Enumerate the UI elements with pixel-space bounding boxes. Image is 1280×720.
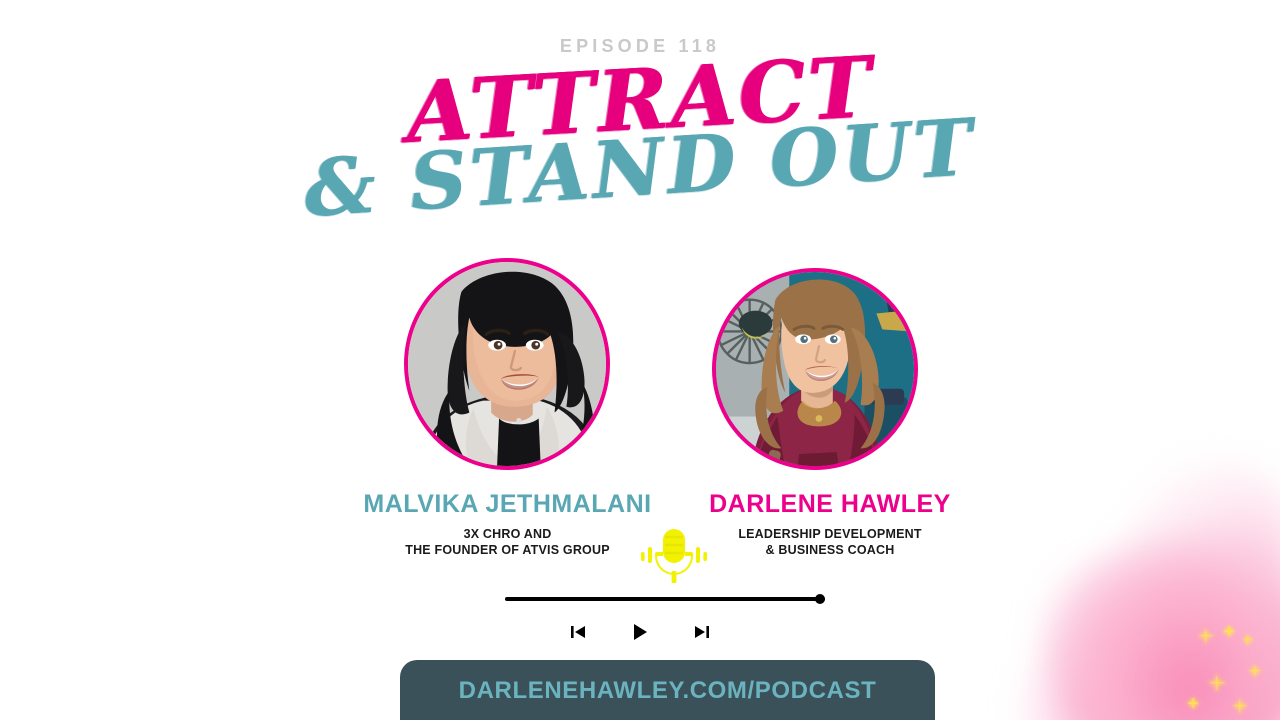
previous-button[interactable] — [566, 620, 590, 644]
guest-2-role: LEADERSHIP DEVELOPMENT & BUSINESS COACH — [690, 527, 970, 558]
progress-track[interactable] — [505, 597, 825, 601]
sparkle-icon — [1233, 699, 1246, 712]
guest-1-role-line1: 3X CHRO AND — [330, 527, 685, 543]
sparkle-icon — [1188, 698, 1198, 708]
progress-knob[interactable] — [815, 594, 825, 604]
podcast-url-text[interactable]: DARLENEHAWLEY.COM/PODCAST — [459, 677, 877, 705]
avatar-guest-2 — [712, 268, 918, 470]
guest-2-name: DARLENE HAWLEY — [690, 490, 970, 519]
microphone-icon — [640, 527, 708, 587]
guest-1-name: MALVIKA JETHMALANI — [330, 490, 685, 519]
guest-photos — [0, 258, 1280, 488]
show-title-artwork: ATTRACT & STAND OUT — [0, 52, 1280, 222]
guest-names: MALVIKA JETHMALANI DARLENE HAWLEY — [0, 490, 1280, 520]
watercolor-blob — [1020, 640, 1160, 720]
podcast-url-banner[interactable]: DARLENEHAWLEY.COM/PODCAST — [400, 660, 935, 720]
playback-controls — [0, 620, 1280, 644]
sparkle-icon — [1209, 675, 1224, 690]
guest-1-role: 3X CHRO AND THE FOUNDER OF ATVIS GROUP — [330, 527, 685, 558]
guest-1-role-line2: THE FOUNDER OF ATVIS GROUP — [330, 543, 685, 559]
playback-progress-bar[interactable] — [505, 594, 825, 604]
next-button[interactable] — [690, 620, 714, 644]
avatar-guest-1 — [404, 258, 610, 470]
guest-2-role-line1: LEADERSHIP DEVELOPMENT — [690, 527, 970, 543]
guest-2-role-line2: & BUSINESS COACH — [690, 543, 970, 559]
play-button[interactable] — [628, 620, 652, 644]
sparkle-icon — [1249, 665, 1260, 676]
podcast-episode-graphic: EPISODE 118 ATTRACT & STAND OUT — [0, 0, 1280, 720]
